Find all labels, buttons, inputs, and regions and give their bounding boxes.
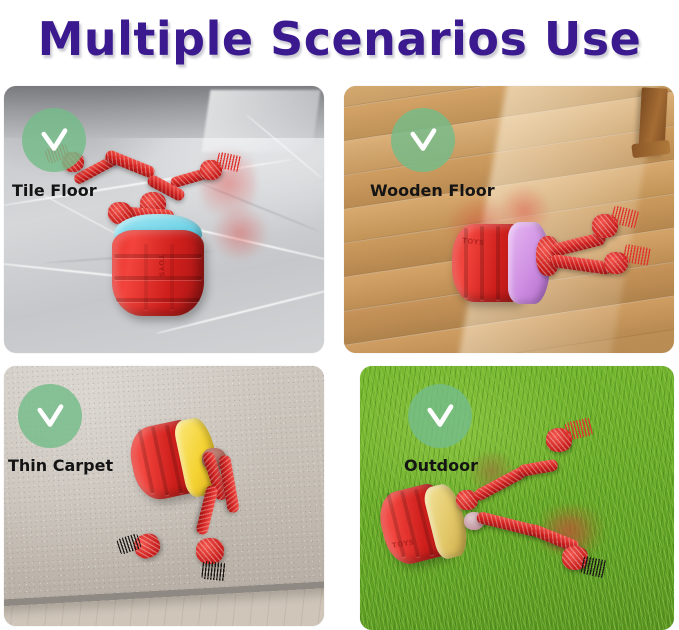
- scenario-label-outdoor: Outdoor: [404, 456, 478, 475]
- check-badge-outdoor: [408, 384, 472, 448]
- check-badge-wooden-floor: [391, 108, 455, 172]
- scenarios-infographic: Multiple Scenarios Use: [0, 0, 679, 630]
- page-title-bar: Multiple Scenarios Use: [0, 0, 679, 78]
- check-badge-tile-floor: [22, 108, 86, 172]
- page-title: Multiple Scenarios Use: [38, 12, 642, 66]
- scenario-panel-tile-floor: TOYS Tile Floor: [4, 86, 324, 353]
- scenario-panel-outdoor: TOYS Outdoor: [360, 366, 674, 630]
- check-icon: [33, 399, 67, 433]
- scenario-panel-thin-carpet: Thin Carpet: [4, 366, 324, 626]
- check-badge-thin-carpet: [18, 384, 82, 448]
- scenario-panel-wooden-floor: TOYS Wooden Floor: [344, 86, 674, 353]
- scenario-label-tile-floor: Tile Floor: [12, 181, 97, 200]
- scenario-grid: TOYS Tile Floor: [0, 78, 679, 630]
- check-icon: [423, 399, 457, 433]
- check-icon: [406, 123, 440, 157]
- check-icon: [37, 123, 71, 157]
- scenario-label-wooden-floor: Wooden Floor: [370, 181, 495, 200]
- scenario-label-thin-carpet: Thin Carpet: [8, 456, 113, 475]
